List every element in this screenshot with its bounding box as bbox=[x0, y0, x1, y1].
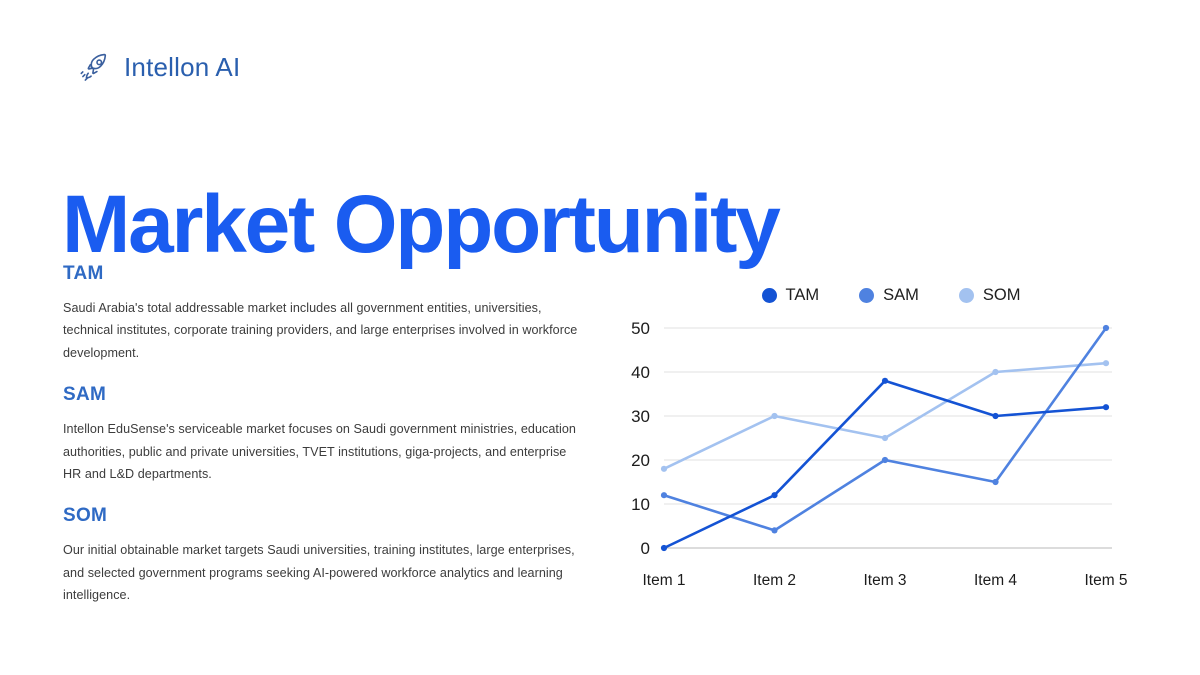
legend-item-tam[interactable]: TAM bbox=[762, 286, 820, 305]
chart-y-tick-label: 10 bbox=[631, 495, 650, 514]
chart-point-som bbox=[661, 466, 667, 472]
chart-y-tick-label: 40 bbox=[631, 363, 650, 382]
section-tam-heading: TAM bbox=[63, 263, 583, 285]
chart-x-tick-label: Item 5 bbox=[1084, 572, 1127, 590]
chart-point-tam bbox=[771, 492, 777, 498]
chart-point-som bbox=[1103, 360, 1109, 366]
chart-x-tick-label: Item 2 bbox=[753, 572, 796, 590]
chart-legend: TAM SAM SOM bbox=[650, 282, 1132, 308]
chart-canvas: 01020304050 bbox=[612, 316, 1132, 566]
section-tam: TAM Saudi Arabia's total addressable mar… bbox=[63, 263, 583, 364]
chart-point-tam bbox=[661, 545, 667, 551]
brand-name: Intellon AI bbox=[124, 52, 240, 83]
chart-point-sam bbox=[882, 457, 888, 463]
chart-point-sam bbox=[1103, 325, 1109, 331]
legend-label-som: SOM bbox=[983, 286, 1021, 305]
chart-line-sam bbox=[664, 328, 1106, 530]
chart-plot-area: 01020304050 bbox=[612, 316, 1132, 566]
legend-marker-tam bbox=[762, 288, 777, 303]
section-som-heading: SOM bbox=[63, 505, 583, 527]
chart-point-tam bbox=[1103, 404, 1109, 410]
chart-point-tam bbox=[882, 378, 888, 384]
chart-point-som bbox=[771, 413, 777, 419]
chart-point-sam bbox=[661, 492, 667, 498]
chart-line-tam bbox=[664, 381, 1106, 548]
market-line-chart: TAM SAM SOM 01020304050 Item 1Item 2Item… bbox=[612, 282, 1132, 602]
section-sam-body: Intellon EduSense's serviceable market f… bbox=[63, 418, 583, 485]
chart-y-tick-label: 30 bbox=[631, 407, 650, 426]
chart-point-sam bbox=[771, 527, 777, 533]
chart-x-axis-labels: Item 1Item 2Item 3Item 4Item 5 bbox=[664, 566, 1096, 596]
chart-y-tick-label: 0 bbox=[641, 539, 650, 558]
chart-point-sam bbox=[992, 479, 998, 485]
legend-marker-sam bbox=[859, 288, 874, 303]
section-som-body: Our initial obtainable market targets Sa… bbox=[63, 539, 583, 606]
legend-item-sam[interactable]: SAM bbox=[859, 286, 919, 305]
chart-point-som bbox=[992, 369, 998, 375]
chart-y-tick-label: 50 bbox=[631, 319, 650, 338]
section-tam-body: Saudi Arabia's total addressable market … bbox=[63, 297, 583, 364]
chart-point-som bbox=[882, 435, 888, 441]
legend-label-tam: TAM bbox=[786, 286, 820, 305]
chart-x-tick-label: Item 4 bbox=[974, 572, 1017, 590]
chart-point-tam bbox=[992, 413, 998, 419]
section-som: SOM Our initial obtainable market target… bbox=[63, 505, 583, 606]
legend-item-som[interactable]: SOM bbox=[959, 286, 1021, 305]
market-sections: TAM Saudi Arabia's total addressable mar… bbox=[63, 263, 583, 607]
section-sam-heading: SAM bbox=[63, 384, 583, 406]
chart-x-tick-label: Item 3 bbox=[863, 572, 906, 590]
chart-x-tick-label: Item 1 bbox=[642, 572, 685, 590]
section-sam: SAM Intellon EduSense's serviceable mark… bbox=[63, 384, 583, 485]
page-title: Market Opportunity bbox=[62, 183, 962, 267]
chart-y-tick-label: 20 bbox=[631, 451, 650, 470]
rocket-icon bbox=[78, 50, 112, 84]
legend-marker-som bbox=[959, 288, 974, 303]
brand-logo: Intellon AI bbox=[78, 50, 240, 84]
legend-label-sam: SAM bbox=[883, 286, 919, 305]
